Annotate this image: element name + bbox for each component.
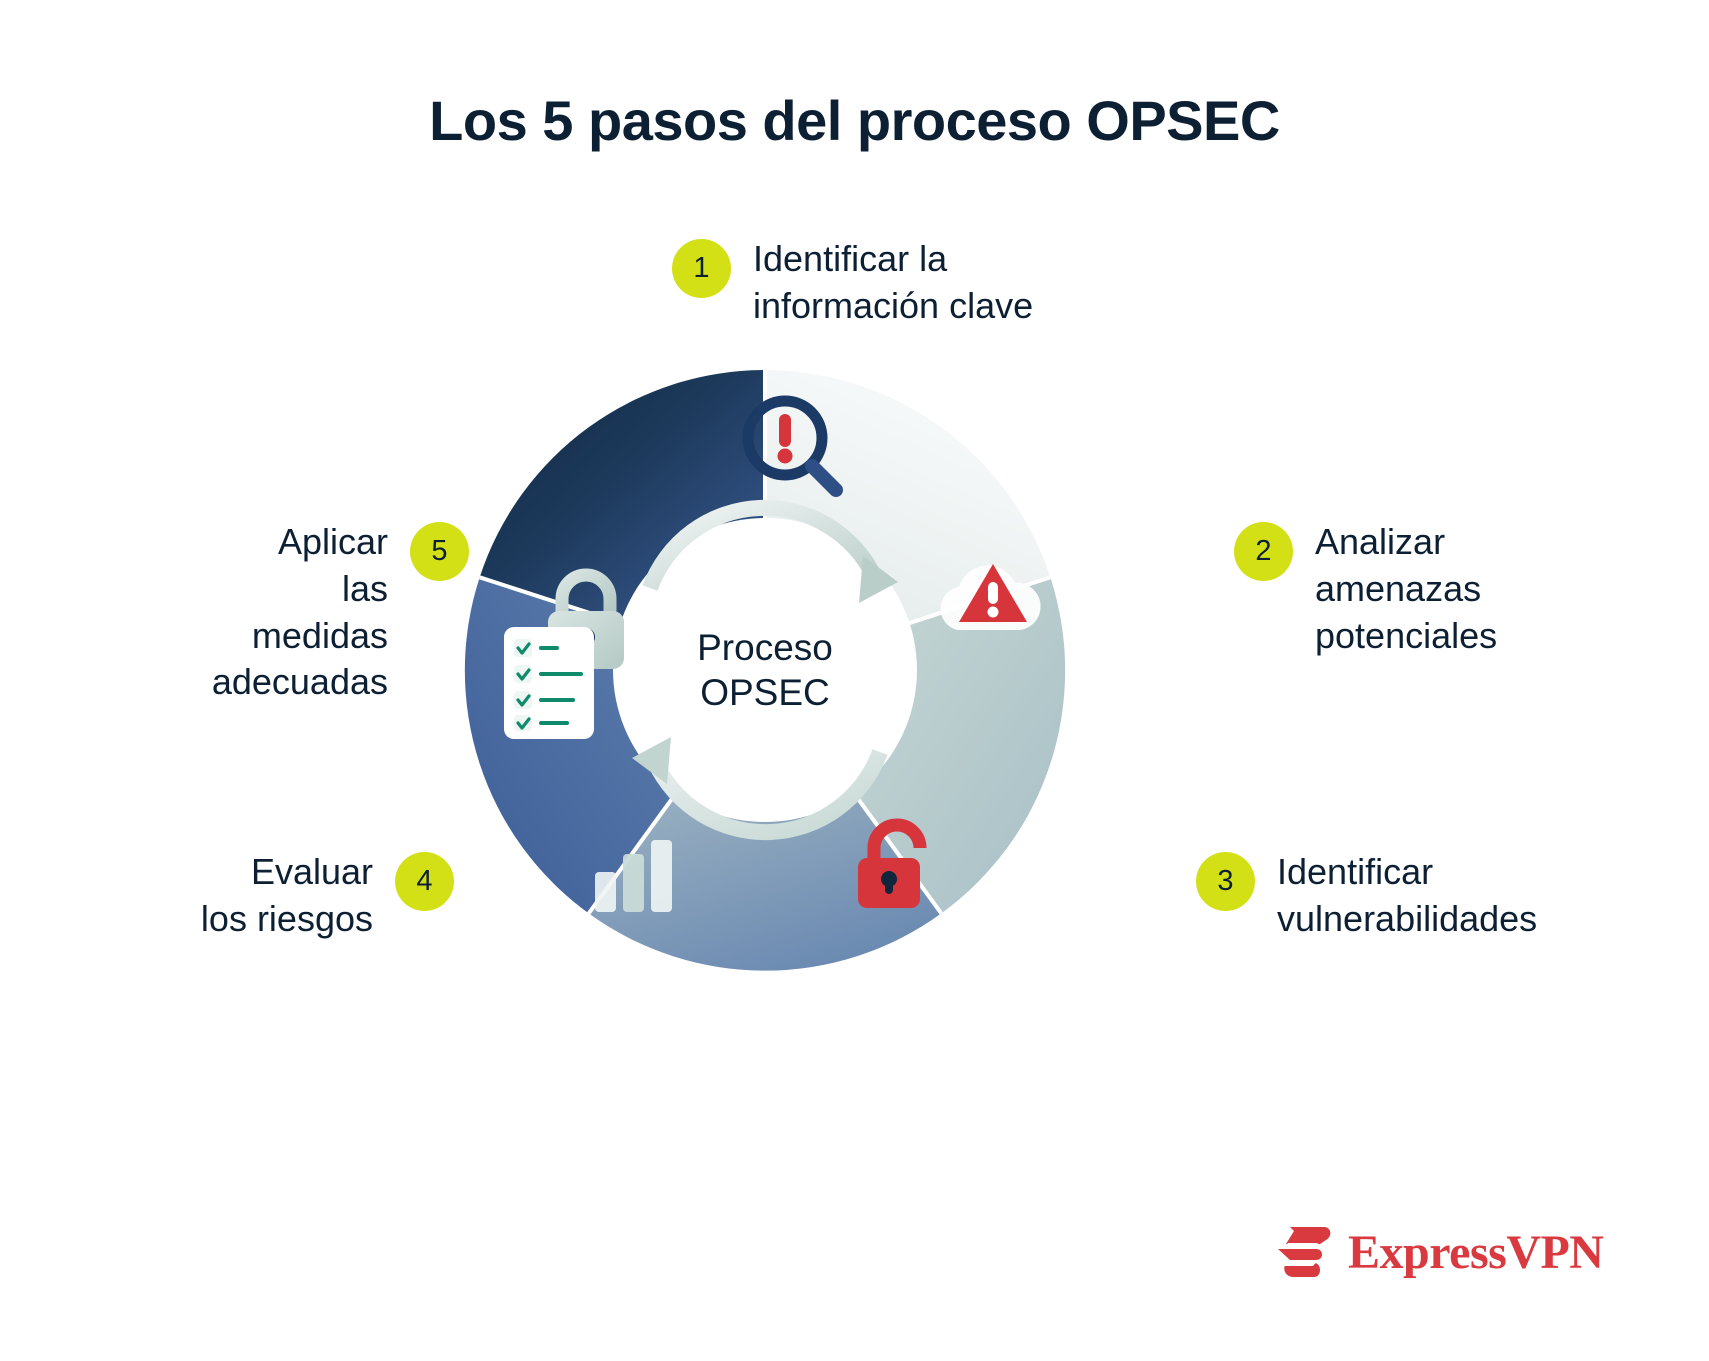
expressvpn-wordmark: ExpressVPN <box>1348 1229 1603 1277</box>
step-callout-2[interactable]: 2 Analizar amenazas potenciales <box>1234 519 1497 659</box>
step-label-1: Identificar la información clave <box>753 236 1033 330</box>
step-label-4: Evaluar los riesgos <box>201 849 373 943</box>
step-label-2: Analizar amenazas potenciales <box>1315 519 1497 659</box>
step-label-5: Aplicar las medidas adecuadas <box>212 519 388 706</box>
expressvpn-logo: ExpressVPN <box>1272 1225 1603 1281</box>
step-callout-5[interactable]: Aplicar las medidas adecuadas 5 <box>212 519 469 706</box>
step-callout-3[interactable]: 3 Identificar vulnerabilidades <box>1196 849 1537 943</box>
step-badge-2: 2 <box>1234 522 1293 581</box>
step-badge-1: 1 <box>672 239 731 298</box>
opsec-process-wheel <box>455 360 1075 980</box>
step-badge-4: 4 <box>395 852 454 911</box>
expressvpn-mark-icon <box>1272 1225 1334 1281</box>
page-title: Los 5 pasos del proceso OPSEC <box>0 88 1709 153</box>
step-badge-5: 5 <box>410 522 469 581</box>
step-callout-1[interactable]: 1 Identificar la información clave <box>672 236 1033 330</box>
step-badge-3: 3 <box>1196 852 1255 911</box>
step-label-3: Identificar vulnerabilidades <box>1277 849 1537 943</box>
step-callout-4[interactable]: Evaluar los riesgos 4 <box>201 849 454 943</box>
infographic-canvas: Los 5 pasos del proceso OPSEC <box>0 0 1709 1361</box>
